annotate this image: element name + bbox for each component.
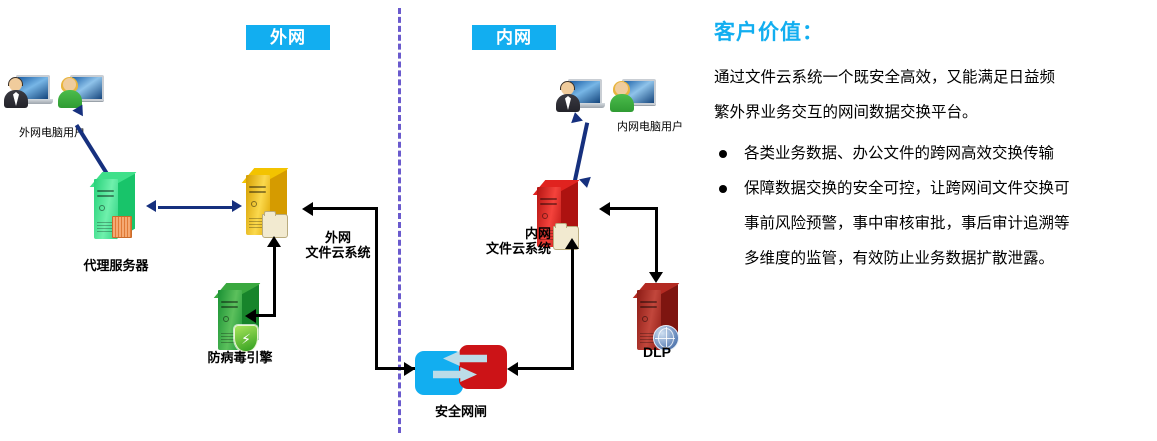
arrowhead-internal-users-up <box>569 111 583 123</box>
ram-module-icon <box>112 216 132 238</box>
connector-gateway-to-external-top <box>313 207 377 210</box>
user-man-laptop-icon <box>4 74 50 108</box>
server-green-icon <box>88 172 142 242</box>
external-cloud-label-line2: 文件云系统 <box>305 245 370 260</box>
connector-proxy-external-cloud <box>158 206 234 209</box>
external-cloud-label: 外网 文件云系统 <box>300 230 376 260</box>
security-gateway-node <box>415 345 507 395</box>
person-woman-icon <box>610 82 634 112</box>
bullet-2-line3: 多维度的监管，有效防止业务数据扩散泄露。 <box>744 250 1054 267</box>
arrowhead-to-gateway <box>404 362 415 376</box>
connector-gateway-internal-vertical <box>571 248 574 370</box>
arrowhead-into-antivirus <box>245 309 256 323</box>
dlp-label: DLP <box>621 345 693 360</box>
arrowhead-into-gateway-red <box>507 362 518 376</box>
connector-antivirus-left-segment <box>256 314 276 317</box>
external-cloud-label-line1: 外网 <box>325 230 351 245</box>
connector-gateway-internal-bottom <box>518 367 574 370</box>
panel-bullet-list: 各类业务数据、办公文件的跨网高效交换传输 保障数据交换的安全可控，让跨网间文件交… <box>714 136 1144 276</box>
internal-users-label: 内网电脑用户 <box>608 120 692 135</box>
person-man-icon <box>556 82 580 112</box>
bullet-2-line2: 事前风险预警，事中审核审批，事后审计追溯等 <box>744 215 1070 232</box>
arrowhead-to-internal-cloud <box>565 238 579 249</box>
bullet-dot-icon <box>719 150 727 158</box>
external-users-label: 外网电脑用户 <box>0 126 104 141</box>
bullet-1-line1: 各类业务数据、办公文件的跨网高效交换传输 <box>744 145 1054 162</box>
shield-bolt-icon: ⚡ <box>234 325 258 352</box>
arrowhead-dlp-to-cloud <box>599 202 610 216</box>
arrowhead-to-external-cloud <box>302 202 313 216</box>
list-item: 各类业务数据、办公文件的跨网高效交换传输 <box>714 136 1144 171</box>
external-users-icon <box>4 72 116 114</box>
folder-icon <box>262 214 288 238</box>
arrowhead-proxy-left <box>146 200 156 212</box>
connector-dlp-top <box>610 207 658 210</box>
connector-gateway-to-external-vertical <box>375 207 378 370</box>
security-gateway-label: 安全网闸 <box>415 404 507 419</box>
person-man-icon <box>4 78 28 108</box>
connector-antivirus-up-segment <box>273 245 276 317</box>
panel-title: 客户价值： <box>714 16 1144 46</box>
antivirus-label: 防病毒引擎 <box>188 350 292 365</box>
proxy-server-label: 代理服务器 <box>74 258 158 273</box>
bullet-dot-icon <box>719 185 727 193</box>
internal-cloud-label-line2: 文件云系统 <box>486 241 551 256</box>
zone-badge-internal: 内网 <box>472 25 556 50</box>
internal-cloud-label: 内网 文件云系统 <box>475 226 551 256</box>
panel-paragraph: 通过文件云系统一个既安全高效，又能满足日益频 繁外界业务交互的网间数据交换平台。 <box>714 60 1144 130</box>
zone-badge-external: 外网 <box>246 25 330 50</box>
server-dark-red-icon <box>631 283 685 353</box>
bullet-2-line1: 保障数据交换的安全可控，让跨网间文件交换可 <box>744 180 1070 197</box>
diagram-canvas: 外网 内网 外网电脑用户 代理服务器 <box>0 0 1157 441</box>
connector-internal-users-cloud <box>573 122 589 182</box>
user-man-laptop-icon-internal <box>556 78 602 112</box>
user-woman-monitor-icon-internal <box>610 78 656 112</box>
list-item: 保障数据交换的安全可控，让跨网间文件交换可 事前风险预警，事中审核审批，事后审计… <box>714 171 1144 276</box>
arrowhead-cloud-to-dlp <box>649 272 663 283</box>
panel-paragraph-line2: 繁外界业务交互的网间数据交换平台。 <box>714 104 978 121</box>
server-gold-icon <box>240 168 294 238</box>
customer-value-panel: 客户价值： 通过文件云系统一个既安全高效，又能满足日益频 繁外界业务交互的网间数… <box>714 16 1144 276</box>
arrowhead-antivirus-to-cloud <box>267 236 281 247</box>
connector-dlp-vertical <box>655 207 658 275</box>
panel-paragraph-line1: 通过文件云系统一个既安全高效，又能满足日益频 <box>714 69 1055 86</box>
gateway-red-block <box>459 345 507 389</box>
internal-cloud-label-line1: 内网 <box>525 226 551 241</box>
server-dark-green-icon: ⚡ <box>212 283 266 353</box>
